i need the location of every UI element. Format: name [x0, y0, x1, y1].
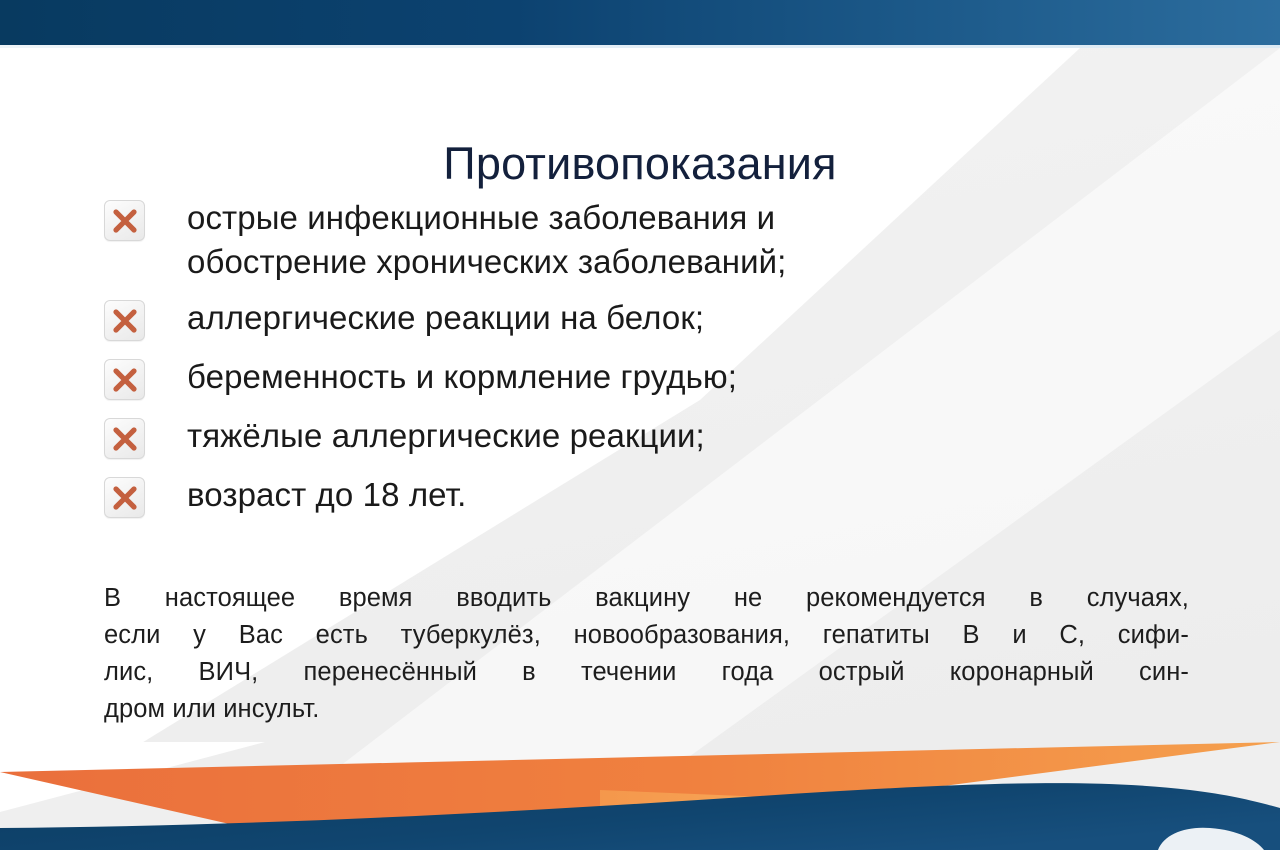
note-line: если у Вас есть туберкулёз, новообразова… — [104, 617, 1189, 654]
note-line: дром или инсульт. — [104, 691, 1189, 728]
list-item-text: беременность и кормление грудью; — [187, 355, 737, 398]
list-item-text: тяжёлые аллергические реакции; — [187, 414, 705, 457]
top-accent-bar — [0, 0, 1280, 45]
cross-mark-icon — [104, 477, 145, 518]
slide-canvas: Противопоказания острые инфекционные заб… — [0, 0, 1280, 850]
page-title: Противопоказания — [0, 138, 1280, 190]
list-item-line: острые инфекционные заболевания и — [187, 199, 775, 236]
list-item: беременность и кормление грудью; — [104, 355, 1204, 400]
note-line: В настоящее время вводить вакцину не рек… — [104, 580, 1189, 617]
note-paragraph: В настоящее время вводить вакцину не рек… — [104, 580, 1189, 728]
list-item-text: возраст до 18 лет. — [187, 473, 466, 516]
list-item-line: обострение хронических заболеваний; — [187, 243, 786, 280]
list-item: возраст до 18 лет. — [104, 473, 1204, 518]
note-line: лис, ВИЧ, перенесённый в течении года ос… — [104, 654, 1189, 691]
list-item: аллергические реакции на белок; — [104, 296, 1204, 341]
cross-mark-icon — [104, 200, 145, 241]
cross-mark-icon — [104, 359, 145, 400]
list-item-text: острые инфекционные заболевания и обостр… — [187, 196, 786, 284]
list-item: тяжёлые аллергические реакции; — [104, 414, 1204, 459]
cross-mark-icon — [104, 418, 145, 459]
contraindication-list: острые инфекционные заболевания и обостр… — [104, 196, 1204, 532]
top-accent-bar-underline — [0, 45, 1280, 48]
list-item: острые инфекционные заболевания и обостр… — [104, 196, 1204, 284]
list-item-text: аллергические реакции на белок; — [187, 296, 704, 339]
slide-content: Противопоказания острые инфекционные заб… — [0, 0, 1280, 850]
cross-mark-icon — [104, 300, 145, 341]
